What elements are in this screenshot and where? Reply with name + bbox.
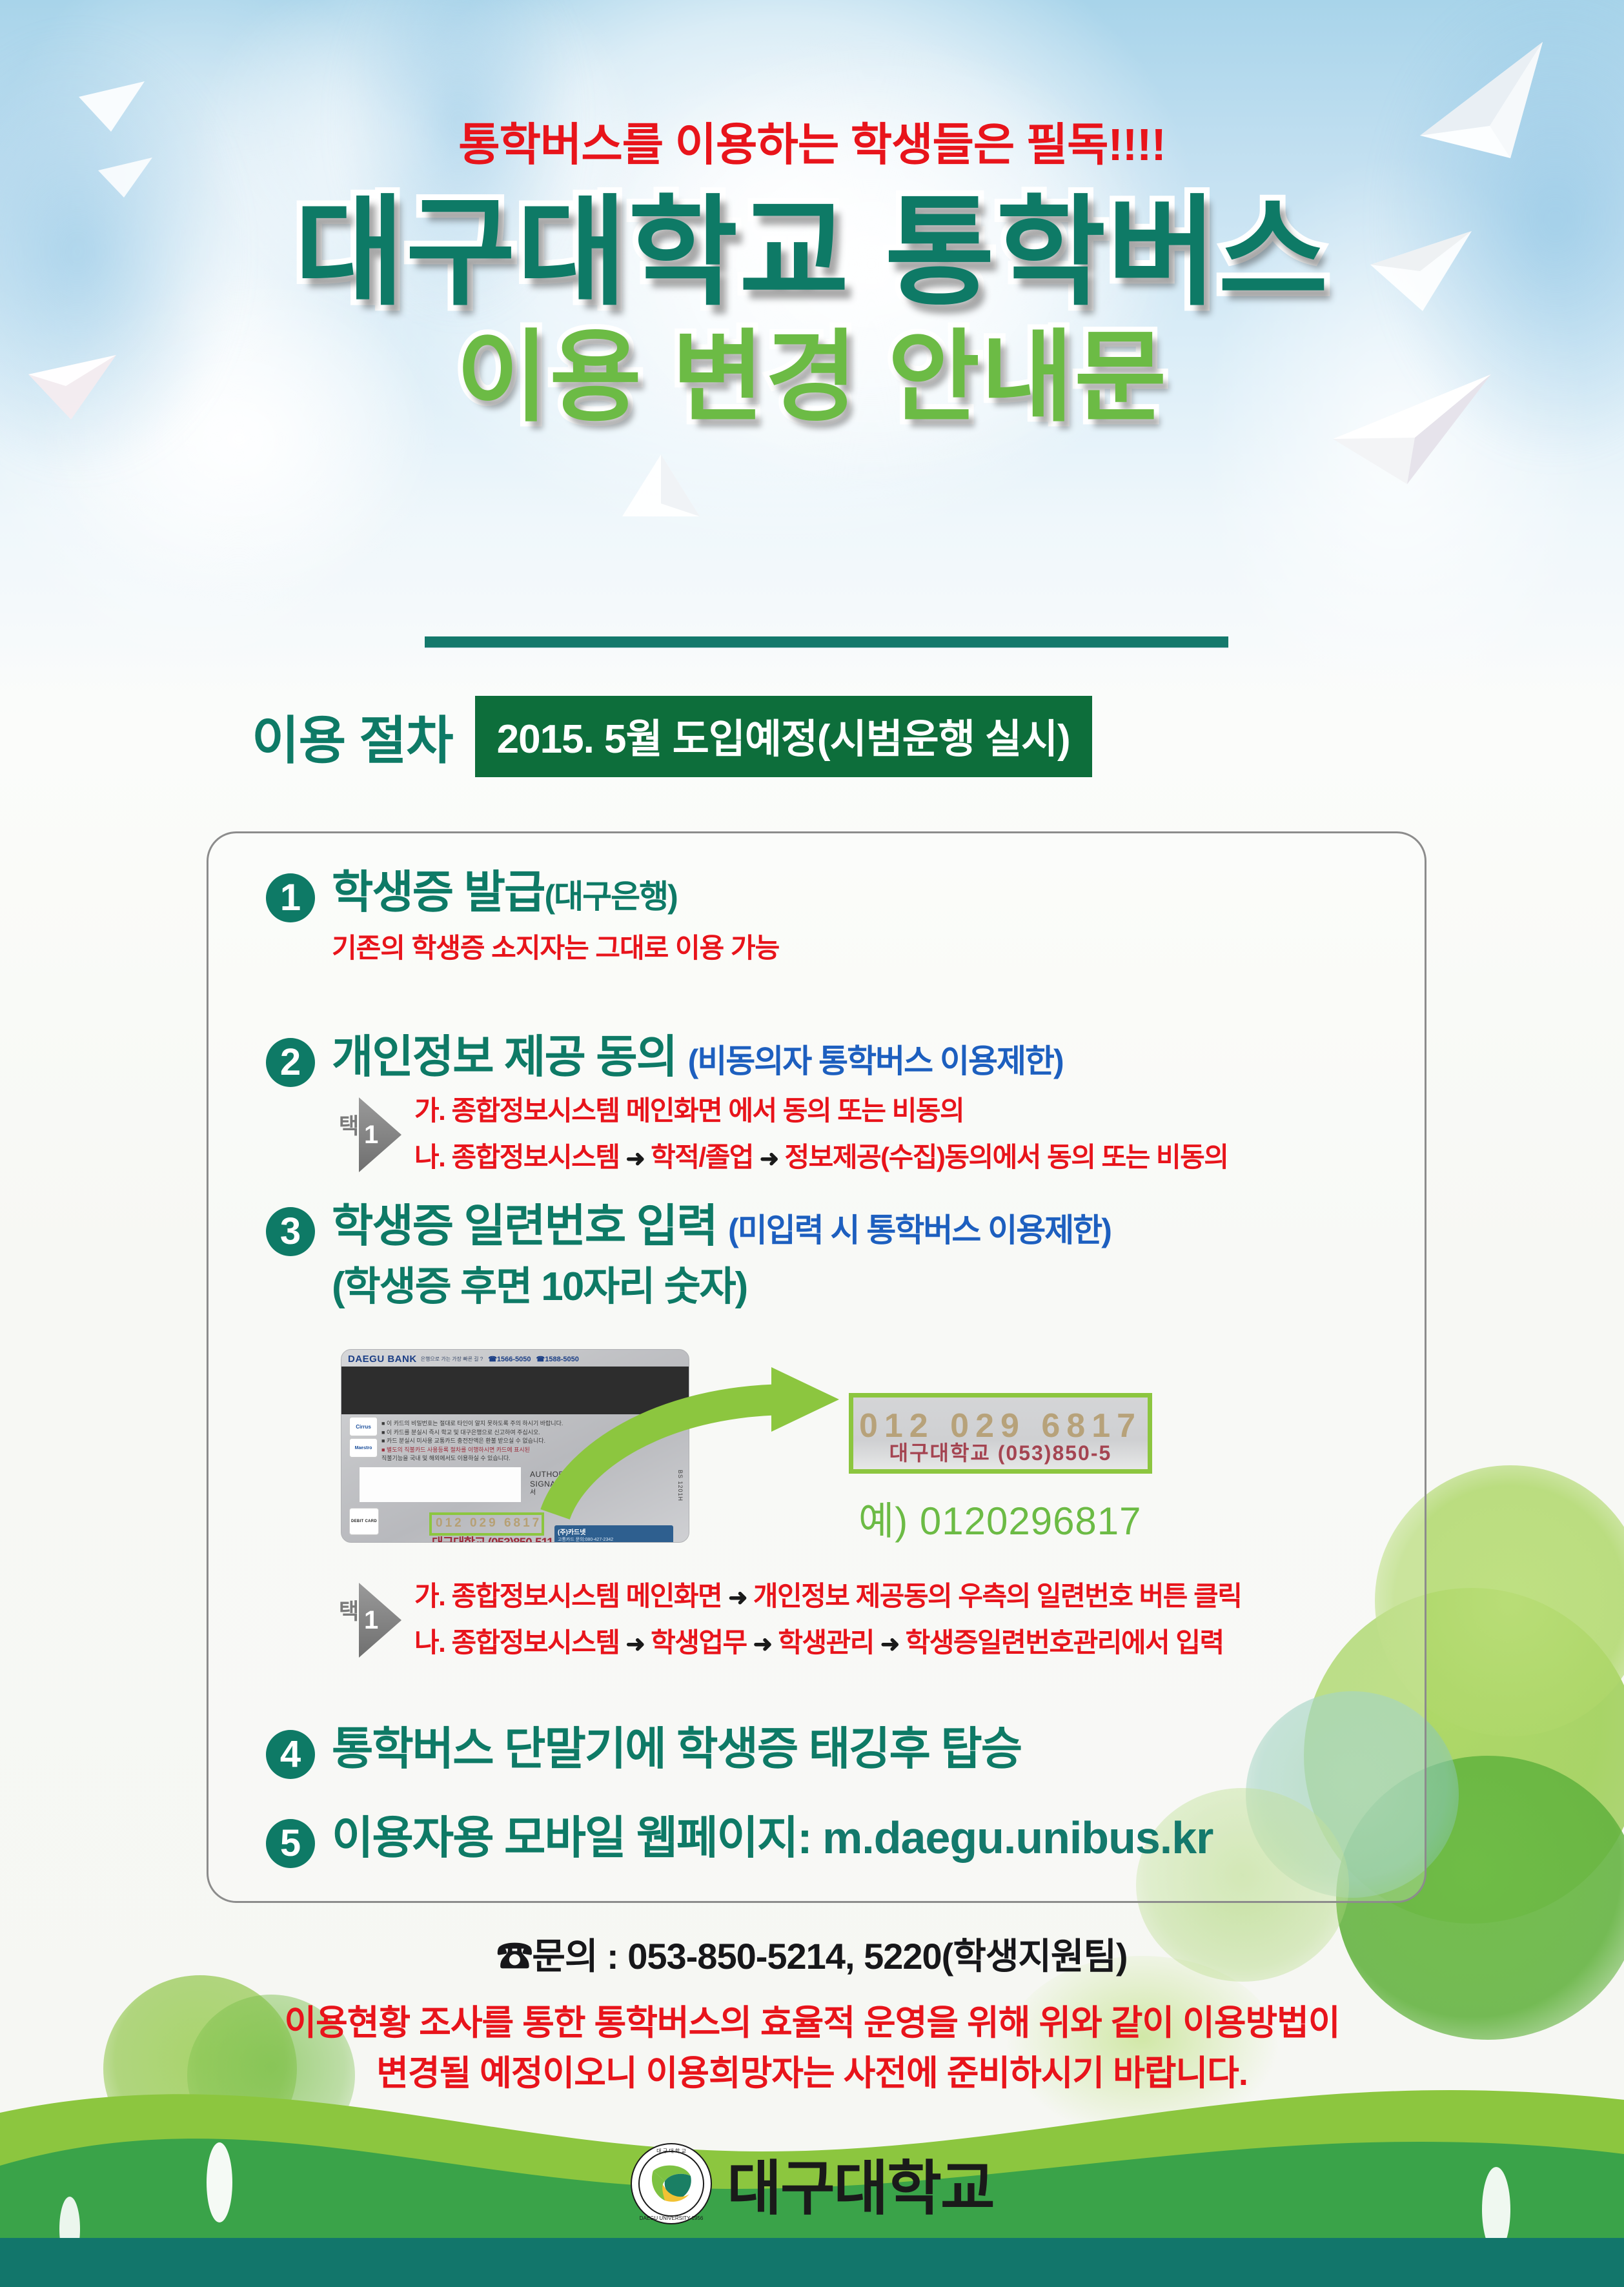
step-5: 5 이용자용 모바일 웹페이지: m.daegu.unibus.kr	[266, 1814, 1213, 1868]
step3-option-b-part3: 학생관리	[778, 1627, 874, 1658]
maestro-logo-icon: Maestro	[349, 1438, 378, 1458]
step3-option-a: 가. 종합정보시스템 메인화면➜개인정보 제공동의 우측의 일련번호 버튼 클릭	[414, 1583, 1241, 1610]
section-header: 이용 절차 2015. 5월 도입예정(시범운행 실시)	[252, 696, 1092, 777]
brand-name: 대구대학교	[727, 2140, 993, 2226]
step3-option-b-part2: 학생업무	[651, 1627, 747, 1658]
daegu-university-seal-icon: 대 구 대 학 교 DAEGU UNIVERSITY 1956	[630, 2142, 713, 2225]
step2-option-b-part2: 학적/졸업	[651, 1142, 753, 1172]
step-1-subnote: 기존의 학생증 소지자는 그대로 이용 가능	[332, 926, 779, 966]
arrow-icon: ➜	[874, 1631, 906, 1657]
contact-text: 문의 : 053-850-5214, 5220(학생지원팀)	[532, 1936, 1127, 1977]
contact-line: ☎문의 : 053-850-5214, 5220(학생지원팀)	[0, 1927, 1624, 1980]
step2-option-a-text: 가. 종합정보시스템 메인화면 에서 동의 또는 비동의	[414, 1095, 964, 1126]
telephone-icon: ☎	[496, 1936, 532, 1977]
step-1-number: 1	[266, 873, 315, 922]
magnified-sub-text: 대구대학교 (053)850-5	[853, 1437, 1148, 1467]
poster-title-line1: 대구대학교 통학버스	[0, 194, 1624, 313]
pick-count-step3: 1	[364, 1607, 378, 1633]
step-2-title: 개인정보 제공 동의	[332, 1032, 676, 1082]
kicker-text: 통학버스를 이용하는 학생들은 필독!!!!	[0, 108, 1624, 174]
step-3-number: 3	[266, 1207, 315, 1256]
step-2-note: (비동의자 통학버스 이용제한)	[688, 1043, 1063, 1079]
step-5-title-row: 이용자용 모바일 웹페이지: m.daegu.unibus.kr	[332, 1814, 1213, 1863]
pick-triangle-icon-step3: 1	[359, 1583, 401, 1658]
step-4-number: 4	[266, 1730, 315, 1779]
step-3-title-line2: (학생증 후면 10자리 숫자)	[332, 1254, 1111, 1312]
serial-example-label: 예) 0120296817	[858, 1490, 1142, 1546]
pick-one-group-step3: 택 1 가. 종합정보시스템 메인화면➜개인정보 제공동의 우측의 일련번호 버…	[336, 1583, 1241, 1658]
arrow-icon: ➜	[722, 1584, 753, 1611]
seal-top-text: 대 구 대 학 교	[657, 2148, 687, 2154]
step-2-title-row: 개인정보 제공 동의 (비동의자 통학버스 이용제한)	[332, 1033, 1063, 1082]
arrow-icon: ➜	[747, 1631, 778, 1657]
pick-count-step2: 1	[364, 1122, 378, 1148]
step-4-title: 통학버스 단말기에 학생증 태깅후 탑승	[332, 1725, 1021, 1774]
card-bank-name: DAEGU BANK	[348, 1354, 417, 1365]
step-1-note: (대구은행)	[544, 879, 676, 915]
arrow-icon: ➜	[619, 1631, 651, 1657]
card-university-line: 대구대학교 (053)850-5114	[432, 1533, 559, 1543]
step3-option-a-part2: 개인정보 제공동의 우측의 일련번호 버튼 클릭	[753, 1581, 1242, 1611]
poster-title-line2: 이용 변경 안내문	[0, 327, 1624, 427]
step-1-title-row: 학생증 발급(대구은행)	[332, 868, 779, 917]
pick-label-step3: 택	[336, 1600, 358, 1621]
kardnet-name: (주)카드넷	[558, 1527, 670, 1536]
step3-option-a-part1: 가. 종합정보시스템 메인화면	[414, 1581, 722, 1611]
poster-title-block: 대구대학교 통학버스 이용 변경 안내문	[0, 194, 1624, 427]
green-curved-arrow-icon	[529, 1362, 878, 1523]
step2-option-b-part3: 정보제공(수집)동의에서 동의 또는 비동의	[785, 1142, 1228, 1172]
step-1: 1 학생증 발급(대구은행) 기존의 학생증 소지자는 그대로 이용 가능	[266, 868, 779, 966]
step2-option-a: 가. 종합정보시스템 메인화면 에서 동의 또는 비동의	[414, 1097, 1228, 1124]
step-3-title-row: 학생증 일련번호 입력 (미입력 시 통학버스 이용제한)	[332, 1202, 1111, 1251]
section-label: 이용 절차	[252, 699, 453, 774]
paper-plane-icon-7	[620, 452, 704, 523]
step2-option-b-part1: 나. 종합정보시스템	[414, 1142, 619, 1172]
step-3-title: 학생증 일련번호 입력	[332, 1201, 717, 1251]
arrow-icon: ➜	[619, 1145, 651, 1172]
kardnet-support: 고통카드 문의:080-427-2342	[558, 1536, 670, 1543]
step2-option-b: 나. 종합정보시스템➜학적/졸업➜정보제공(수집)동의에서 동의 또는 비동의	[414, 1144, 1228, 1171]
footer-bar	[0, 2238, 1624, 2287]
card-slogan: 은행으로 가는 가장 빠른 길 ?	[421, 1356, 483, 1363]
step-3-note: (미입력 시 통학버스 이용제한)	[728, 1212, 1111, 1248]
card-signature-box	[360, 1467, 521, 1502]
step3-option-b: 나. 종합정보시스템➜학생업무➜학생관리➜학생증일련번호관리에서 입력	[414, 1629, 1241, 1656]
kardnet-block: (주)카드넷 고통카드 문의:080-427-2342	[554, 1525, 673, 1543]
section-badge: 2015. 5월 도입예정(시범운행 실시)	[475, 696, 1092, 777]
poster-root: 통학버스를 이용하는 학생들은 필독!!!! 대구대학교 통학버스 이용 변경 …	[0, 0, 1624, 2287]
step-3: 3 학생증 일련번호 입력 (미입력 시 통학버스 이용제한) (학생증 후면 …	[266, 1202, 1111, 1312]
debit-card-label: DEBIT CARD	[351, 1520, 377, 1523]
title-divider	[425, 636, 1228, 647]
step-2: 2 개인정보 제공 동의 (비동의자 통학버스 이용제한)	[266, 1033, 1063, 1087]
card-serial-number: 012 029 6817	[436, 1516, 542, 1530]
card-tel-1: ☎1566-5050	[488, 1355, 531, 1363]
step3-option-b-part4: 학생증일련번호관리에서 입력	[906, 1627, 1224, 1658]
step-5-number: 5	[266, 1819, 315, 1868]
pick-label-step2: 택	[336, 1114, 358, 1135]
step-1-title: 학생증 발급	[332, 867, 544, 917]
step-4: 4 통학버스 단말기에 학생증 태깅후 탑승	[266, 1725, 1021, 1779]
cirrus-logo-icon: Cirrus	[349, 1417, 378, 1436]
seal-bottom-text: DAEGU UNIVERSITY 1956	[640, 2215, 704, 2221]
card-network-logos: Cirrus Maestro	[349, 1417, 378, 1458]
pick-one-group-step2: 택 1 가. 종합정보시스템 메인화면 에서 동의 또는 비동의 나. 종합정보…	[336, 1097, 1228, 1172]
brand-footer: 대 구 대 학 교 DAEGU UNIVERSITY 1956 대구대학교	[0, 2140, 1624, 2226]
mobile-web-url[interactable]: m.daegu.unibus.kr	[822, 1813, 1213, 1863]
pick-triangle-icon-step2: 1	[359, 1097, 401, 1172]
step3-option-b-part1: 나. 종합정보시스템	[414, 1627, 619, 1658]
step-5-title: 이용자용 모바일 웹페이지:	[332, 1813, 822, 1863]
arrow-icon: ➜	[753, 1145, 785, 1172]
debit-card-logo-icon: DEBIT CARD	[349, 1508, 379, 1535]
step-2-number: 2	[266, 1038, 315, 1087]
magnified-serial-box: 012 029 6817 대구대학교 (053)850-5	[849, 1393, 1152, 1474]
